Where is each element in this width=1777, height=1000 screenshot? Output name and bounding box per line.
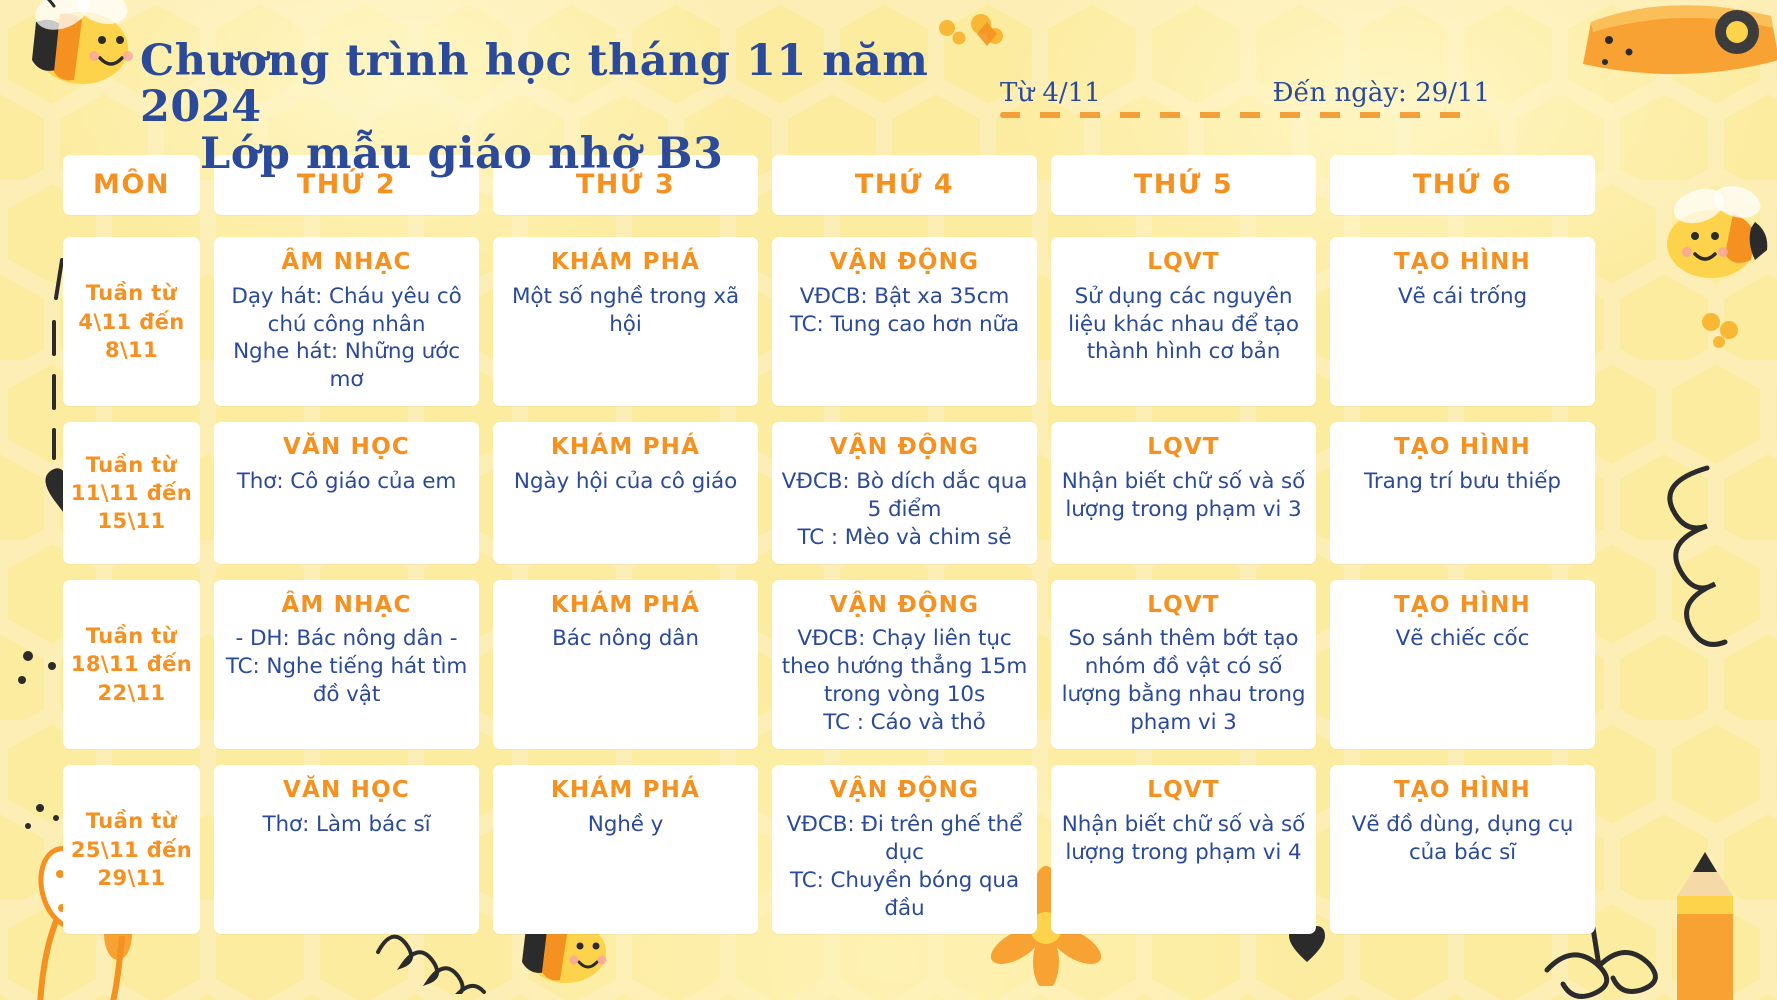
subject-title: TẠO HÌNH	[1394, 777, 1531, 805]
title-line-1: Chương trình học tháng 11 năm 2024	[140, 38, 1010, 131]
schedule-cell: LQVT Nhận biết chữ số và số lượng trong …	[1051, 422, 1316, 563]
subject-title: ÂM NHẠC	[281, 592, 411, 620]
subject-title: KHÁM PHÁ	[551, 249, 700, 277]
subject-detail: VĐCB: Chạy liên tục theo hướng thẳng 15m…	[780, 625, 1029, 737]
date-to-label: Đến ngày: 29/11	[1272, 78, 1490, 108]
subject-title: VĂN HỌC	[283, 777, 410, 805]
subject-detail: Thơ: Làm bác sĩ	[262, 811, 430, 839]
subject-detail: Nhận biết chữ số và số lượng trong phạm …	[1059, 468, 1308, 524]
week-label-cell: Tuần từ 11\11 đến 15\11	[63, 422, 200, 563]
week-label-cell: Tuần từ 18\11 đến 22\11	[63, 580, 200, 749]
schedule-cell: KHÁM PHÁ Một số nghề trong xã hội	[493, 237, 758, 406]
schedule-cell: VẬN ĐỘNG VĐCB: Bật xa 35cm TC: Tung cao …	[772, 237, 1037, 406]
table-row: Tuần từ 18\11 đến 22\11 ÂM NHẠC - DH: Bá…	[63, 580, 1718, 749]
schedule-cell: KHÁM PHÁ Bác nông dân	[493, 580, 758, 749]
subject-detail: So sánh thêm bớt tạo nhóm đồ vật có số l…	[1059, 625, 1308, 737]
date-range: Từ 4/11 Đến ngày: 29/11	[1000, 78, 1520, 108]
subject-title: KHÁM PHÁ	[551, 434, 700, 462]
schedule-cell: VĂN HỌC Thơ: Cô giáo của em	[214, 422, 479, 563]
subject-detail: - DH: Bác nông dân - TC: Nghe tiếng hát …	[222, 625, 471, 709]
page-header: Chương trình học tháng 11 năm 2024 Lớp m…	[0, 0, 1777, 150]
column-header-label: THỨ 6	[1413, 169, 1512, 200]
subject-detail: Vẽ chiếc cốc	[1396, 625, 1530, 653]
subject-detail: VĐCB: Đi trên ghế thể dục TC: Chuyền bón…	[780, 811, 1029, 923]
schedule-cell: TẠO HÌNH Trang trí bưu thiếp	[1330, 422, 1595, 563]
subject-title: VẬN ĐỘNG	[830, 592, 979, 620]
subject-detail: Ngày hội của cô giáo	[514, 468, 737, 496]
schedule-cell: KHÁM PHÁ Ngày hội của cô giáo	[493, 422, 758, 563]
column-header-label: THỨ 5	[1134, 169, 1233, 200]
subject-title: LQVT	[1147, 777, 1220, 805]
subject-detail: Nhận biết chữ số và số lượng trong phạm …	[1059, 811, 1308, 867]
subject-title: TẠO HÌNH	[1394, 249, 1531, 277]
subject-detail: Một số nghề trong xã hội	[501, 283, 750, 339]
subject-title: TẠO HÌNH	[1394, 592, 1531, 620]
title-line-2: Lớp mẫu giáo nhỡ B3	[140, 131, 1010, 177]
subject-title: LQVT	[1147, 434, 1220, 462]
week-label-cell: Tuần từ 4\11 đến 8\11	[63, 237, 200, 406]
schedule-table: MÔN THỨ 2 THỨ 3 THỨ 4 THỨ 5 THỨ 6 Tuần t…	[63, 155, 1718, 950]
subject-title: LQVT	[1147, 592, 1220, 620]
subject-title: VẬN ĐỘNG	[830, 249, 979, 277]
week-label: Tuần từ 11\11 đến 15\11	[67, 451, 196, 536]
column-header-thu5: THỨ 5	[1051, 155, 1316, 215]
subject-detail: VĐCB: Bò dích dắc qua 5 điểm TC : Mèo và…	[780, 468, 1029, 552]
subject-detail: Dạy hát: Cháu yêu cô chú công nhân Nghe …	[222, 283, 471, 395]
schedule-cell: LQVT Nhận biết chữ số và số lượng trong …	[1051, 765, 1316, 934]
subject-detail: Sử dụng các nguyên liệu khác nhau để tạo…	[1059, 283, 1308, 367]
table-row: Tuần từ 11\11 đến 15\11 VĂN HỌC Thơ: Cô …	[63, 422, 1718, 563]
subject-detail: Vẽ cái trống	[1398, 283, 1527, 311]
subject-title: VẬN ĐỘNG	[830, 434, 979, 462]
table-row: Tuần từ 25\11 đến 29\11 VĂN HỌC Thơ: Làm…	[63, 765, 1718, 934]
subject-detail: Trang trí bưu thiếp	[1364, 468, 1561, 496]
schedule-cell: LQVT Sử dụng các nguyên liệu khác nhau đ…	[1051, 237, 1316, 406]
schedule-cell: LQVT So sánh thêm bớt tạo nhóm đồ vật có…	[1051, 580, 1316, 749]
column-header-thu6: THỨ 6	[1330, 155, 1595, 215]
week-label: Tuần từ 25\11 đến 29\11	[67, 807, 196, 892]
schedule-cell: VẬN ĐỘNG VĐCB: Chạy liên tục theo hướng …	[772, 580, 1037, 749]
subject-detail: Thơ: Cô giáo của em	[237, 468, 457, 496]
subject-detail: VĐCB: Bật xa 35cm TC: Tung cao hơn nữa	[790, 283, 1019, 339]
subject-title: TẠO HÌNH	[1394, 434, 1531, 462]
week-label-cell: Tuần từ 25\11 đến 29\11	[63, 765, 200, 934]
schedule-cell: VẬN ĐỘNG VĐCB: Bò dích dắc qua 5 điểm TC…	[772, 422, 1037, 563]
page-title: Chương trình học tháng 11 năm 2024 Lớp m…	[140, 38, 1010, 177]
table-row: Tuần từ 4\11 đến 8\11 ÂM NHẠC Dạy hát: C…	[63, 237, 1718, 406]
schedule-cell: ÂM NHẠC - DH: Bác nông dân - TC: Nghe ti…	[214, 580, 479, 749]
schedule-cell: TẠO HÌNH Vẽ đồ dùng, dụng cụ của bác sĩ	[1330, 765, 1595, 934]
subject-detail: Bác nông dân	[552, 625, 699, 653]
subject-title: KHÁM PHÁ	[551, 777, 700, 805]
subject-title: VĂN HỌC	[283, 434, 410, 462]
date-from-label: Từ 4/11	[1000, 78, 1101, 108]
subject-detail: Nghề y	[588, 811, 664, 839]
week-label: Tuần từ 4\11 đến 8\11	[67, 279, 196, 364]
subject-detail: Vẽ đồ dùng, dụng cụ của bác sĩ	[1338, 811, 1587, 867]
subject-title: LQVT	[1147, 249, 1220, 277]
schedule-cell: TẠO HÌNH Vẽ chiếc cốc	[1330, 580, 1595, 749]
schedule-cell: ÂM NHẠC Dạy hát: Cháu yêu cô chú công nh…	[214, 237, 479, 406]
subject-title: KHÁM PHÁ	[551, 592, 700, 620]
schedule-cell: KHÁM PHÁ Nghề y	[493, 765, 758, 934]
date-range-underline	[1000, 112, 1470, 118]
schedule-cell: VẬN ĐỘNG VĐCB: Đi trên ghế thể dục TC: C…	[772, 765, 1037, 934]
subject-title: ÂM NHẠC	[281, 249, 411, 277]
subject-title: VẬN ĐỘNG	[830, 777, 979, 805]
schedule-cell: TẠO HÌNH Vẽ cái trống	[1330, 237, 1595, 406]
week-label: Tuần từ 18\11 đến 22\11	[67, 622, 196, 707]
schedule-cell: VĂN HỌC Thơ: Làm bác sĩ	[214, 765, 479, 934]
